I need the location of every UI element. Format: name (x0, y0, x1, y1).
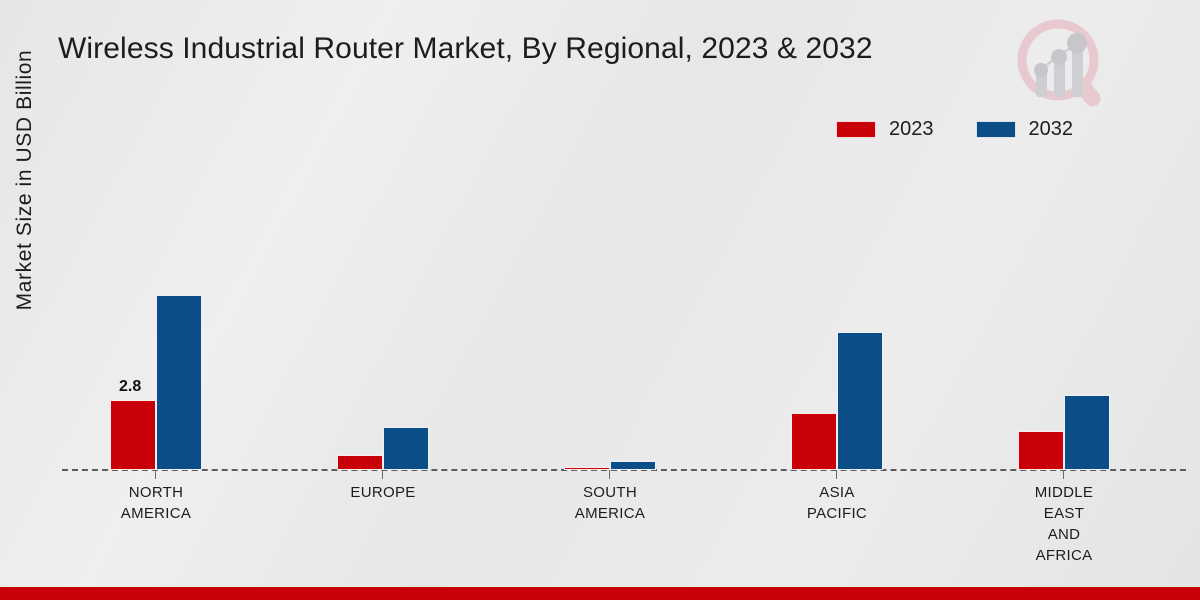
label-line: AMERICA (56, 503, 256, 524)
bar-group-bars (1018, 230, 1110, 470)
x-axis-tick (382, 470, 383, 479)
bar-2032-middle-east-and-africa[interactable] (1064, 395, 1110, 470)
label-line: AMERICA (510, 503, 710, 524)
label-line: EAST (964, 503, 1164, 524)
value-label-2023-north-america: 2.8 (119, 378, 141, 396)
bar-2023-europe[interactable] (337, 455, 383, 470)
x-axis-tick (155, 470, 156, 479)
label-line: ASIA (737, 482, 937, 503)
bar-2023-north-america[interactable] (110, 400, 156, 470)
label-line: SOUTH (510, 482, 710, 503)
x-axis-label-europe: EUROPE (283, 482, 483, 503)
label-line: PACIFIC (737, 503, 937, 524)
bar-group-bars (791, 230, 883, 470)
plot-area: 2.8 (0, 0, 1200, 600)
bar-2032-europe[interactable] (383, 427, 429, 470)
x-axis-label-north-america: NORTH AMERICA (56, 482, 256, 524)
x-axis-tick (836, 470, 837, 479)
x-axis-label-middle-east-and-africa: MIDDLE EAST AND AFRICA (964, 482, 1164, 566)
bar-2032-asia-pacific[interactable] (837, 332, 883, 470)
chart-canvas: Wireless Industrial Router Market, By Re… (0, 0, 1200, 600)
bar-group-south-america (564, 230, 656, 470)
bar-2023-middle-east-and-africa[interactable] (1018, 431, 1064, 470)
bar-group-asia-pacific (791, 230, 883, 470)
label-line: AFRICA (964, 545, 1164, 566)
label-line: AND (964, 524, 1164, 545)
bar-2023-south-america[interactable] (564, 467, 610, 470)
x-axis-label-south-america: SOUTH AMERICA (510, 482, 710, 524)
label-line: NORTH (56, 482, 256, 503)
x-axis-label-asia-pacific: ASIA PACIFIC (737, 482, 937, 524)
bar-2032-south-america[interactable] (610, 461, 656, 470)
bar-group-bars (110, 230, 202, 470)
bar-group-bars (337, 230, 429, 470)
bar-group-north-america: 2.8 (110, 230, 202, 470)
x-axis-tick (609, 470, 610, 479)
bar-2023-asia-pacific[interactable] (791, 413, 837, 470)
bar-group-europe (337, 230, 429, 470)
label-line: MIDDLE (964, 482, 1164, 503)
footer-accent-bar (0, 587, 1200, 600)
x-axis-tick (1063, 470, 1064, 479)
bar-2032-north-america[interactable] (156, 295, 202, 470)
bar-group-bars (564, 230, 656, 470)
bar-group-middle-east-and-africa (1018, 230, 1110, 470)
label-line: EUROPE (283, 482, 483, 503)
